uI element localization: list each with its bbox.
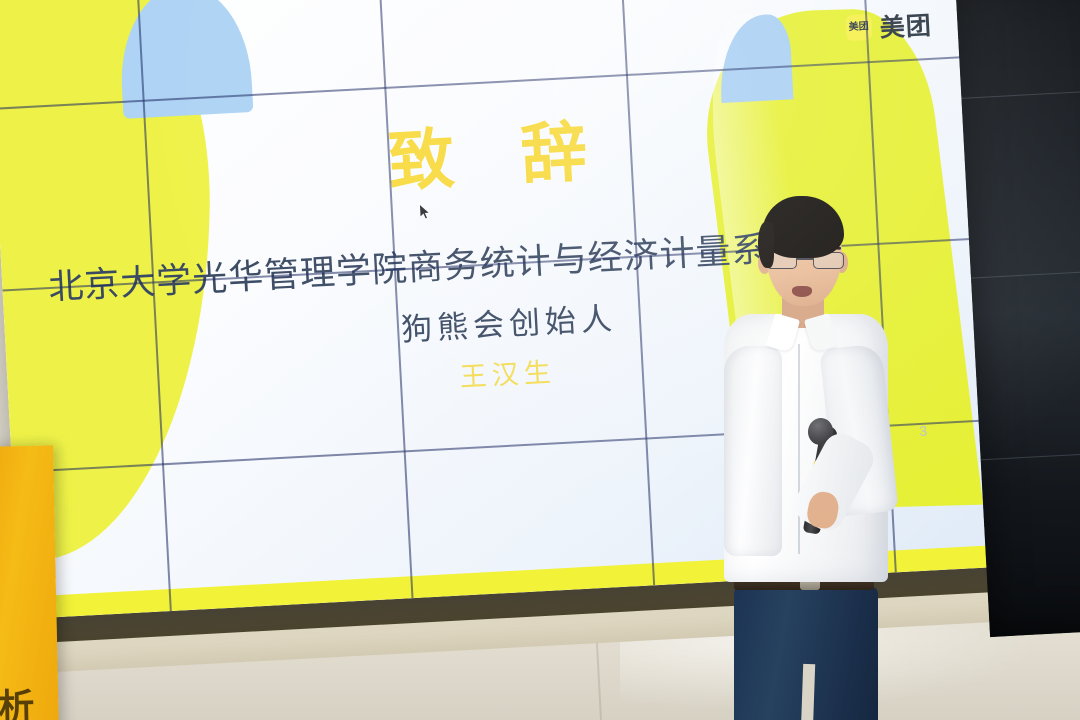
- meituan-mark-icon: 美团: [845, 14, 872, 41]
- wall-bezel-vertical: [377, 0, 413, 598]
- screenshot-stage: 美团 美团 致 辞 北京大学光华管理学院商务统计与经济计量系主 狗熊会创始人 王…: [0, 0, 1080, 720]
- presenter-hair-side: [758, 222, 774, 268]
- decor-blue-arc-left: [117, 0, 254, 119]
- foreground-banner-text: 析: [0, 678, 35, 720]
- brand-name-label: 美团: [879, 6, 933, 45]
- presenter: [700, 196, 930, 720]
- brand-logo: 美团 美团: [845, 6, 933, 47]
- slide-speaker-name: 王汉生: [459, 350, 557, 394]
- mouse-pointer-icon: [418, 203, 431, 222]
- foreground-banner: 析: [0, 445, 59, 720]
- slide-role-line: 狗熊会创始人: [400, 293, 618, 349]
- presenter-mouth: [792, 286, 812, 297]
- presenter-hair: [762, 196, 844, 258]
- wall-bezel-vertical: [619, 0, 655, 585]
- slide-title: 致 辞: [385, 97, 611, 205]
- presenter-arm-left: [724, 346, 782, 556]
- presenter-shirt-placket: [798, 344, 800, 554]
